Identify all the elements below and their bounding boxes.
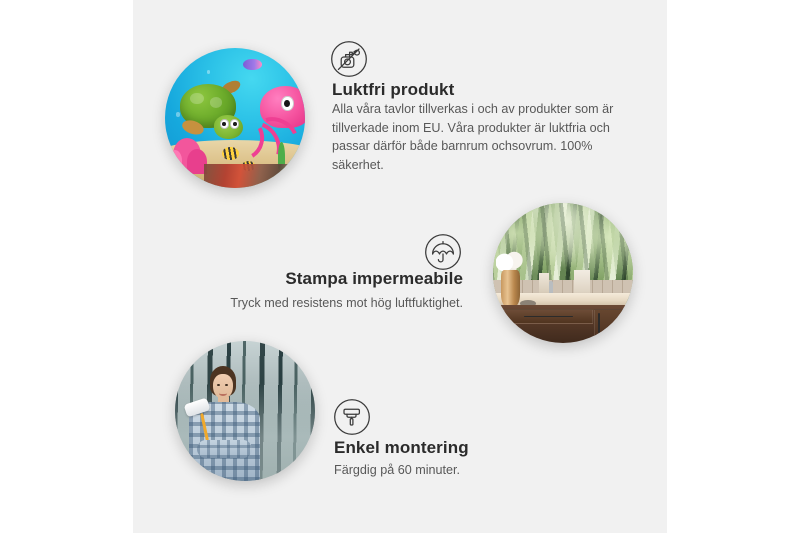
- bathroom-scene: [493, 203, 633, 343]
- turtle-head: [214, 115, 243, 139]
- feature-body: Färgdig på 60 minuter.: [334, 461, 594, 480]
- vanity-door: [594, 309, 633, 342]
- woman-figure: [186, 366, 264, 481]
- purple-fish: [243, 59, 261, 70]
- bubble: [176, 112, 180, 116]
- underwater-cartoon-circle-image: [165, 48, 305, 188]
- turtle-eye: [230, 119, 239, 128]
- smile: [219, 391, 228, 397]
- feature-body: Tryck med resistens mot hög luftfuktighe…: [175, 294, 463, 313]
- product-feature-banner: Luktfri produkt Alla våra tavlor tillver…: [0, 0, 800, 533]
- feature-body: Alla våra tavlor tillverkas i och av pro…: [332, 100, 618, 174]
- feature-title: Enkel montering: [334, 438, 469, 458]
- gold-vase: [501, 270, 519, 306]
- umbrella-icon: [424, 233, 462, 271]
- octopus-eye: [281, 96, 294, 111]
- paint-roller-icon: [333, 398, 371, 436]
- bathroom-tropical-wallpaper-circle-image: [493, 203, 633, 343]
- feature-title: Stampa impermeabile: [175, 269, 463, 289]
- wooden-vanity: [499, 305, 633, 343]
- turtle-eye: [220, 119, 229, 128]
- coral: [168, 150, 182, 171]
- eye: [225, 384, 228, 386]
- feature-title: Luktfri produkt: [332, 80, 454, 100]
- underwater-scene: [165, 48, 305, 188]
- door-pull: [598, 313, 600, 333]
- crossed-arms: [197, 440, 252, 458]
- forest-portrait-scene: [175, 341, 315, 481]
- face: [213, 374, 233, 399]
- drawer-pull: [524, 316, 572, 317]
- photo-strip: [204, 164, 305, 188]
- vanity-drawer: [504, 309, 593, 324]
- woman-paint-roller-forest-circle-image: [175, 341, 315, 481]
- eye: [217, 384, 220, 386]
- no-odor-spray-bottle-icon: [330, 40, 368, 78]
